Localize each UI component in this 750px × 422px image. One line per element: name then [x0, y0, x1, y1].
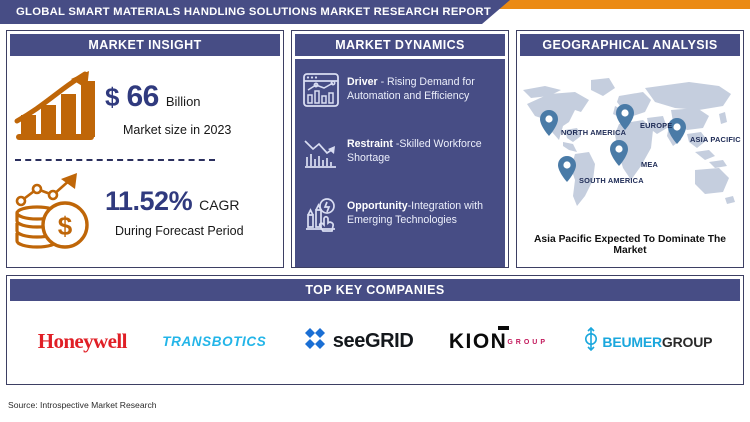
logo-kion-text: KION — [449, 330, 508, 353]
cagr-row: $ 11.52% CA — [13, 168, 279, 256]
company-logo-row: Honeywell TRANSBOTICS seeGRI — [10, 301, 740, 382]
map-pin-mea — [610, 140, 628, 166]
banner-navy-shape: GLOBAL SMART MATERIALS HANDLING SOLUTION… — [0, 0, 510, 24]
cagr-text: 11.52% CAGR During Forecast Period — [105, 186, 244, 238]
beumer-circle-mark-icon — [583, 327, 599, 356]
map-label-asia-pacific: ASIA PACIFIC — [690, 135, 741, 144]
market-size-text: $ 66 Billion Market size in 2023 — [105, 80, 231, 137]
top-key-companies-heading: TOP KEY COMPANIES — [10, 279, 740, 301]
dynamics-driver-sep: - — [378, 76, 387, 88]
map-label-europe: EUROPE — [640, 121, 672, 130]
market-dynamics-heading: MARKET DYNAMICS — [295, 34, 505, 56]
declining-bar-chart-icon — [302, 133, 344, 176]
dashboard-analytics-icon — [302, 71, 344, 114]
currency-symbol: $ — [105, 82, 119, 113]
logo-transbotics[interactable]: TRANSBOTICS — [162, 334, 266, 349]
logo-beumer-subtext: GROUP — [662, 334, 712, 350]
logo-beumer[interactable]: BEUMERGROUP — [583, 327, 712, 356]
map-label-north-america: NORTH AMERICA — [561, 128, 626, 137]
logo-kion[interactable]: KION GROUP — [449, 330, 548, 354]
top-banner: GLOBAL SMART MATERIALS HANDLING SOLUTION… — [0, 0, 750, 24]
report-title: GLOBAL SMART MATERIALS HANDLING SOLUTION… — [0, 6, 491, 18]
logo-kion-subtext: GROUP — [507, 339, 548, 346]
logo-seegrid-text: seeGRID — [333, 330, 414, 353]
coins-growth-icon: $ — [13, 169, 99, 256]
map-label-south-america: SOUTH AMERICA — [579, 176, 644, 185]
dynamics-restraint-text: Restraint -Skilled Workforce Shortage — [344, 131, 498, 165]
geographical-analysis-heading: GEOGRAPHICAL ANALYSIS — [520, 34, 740, 56]
svg-text:$: $ — [58, 211, 73, 241]
market-size-caption: Market size in 2023 — [123, 123, 231, 137]
market-size-value: 66 — [126, 80, 158, 114]
market-insight-body: $ 66 Billion Market size in 2023 — [7, 56, 283, 268]
cagr-unit: CAGR — [199, 197, 239, 213]
market-insight-panel: MARKET INSIGHT — [6, 30, 284, 268]
cagr-value: 11.52% — [105, 186, 192, 217]
dynamics-driver-label: Driver — [347, 76, 378, 88]
logo-seegrid[interactable]: seeGRID — [302, 326, 414, 357]
logo-beumer-text: BEUMER — [602, 334, 661, 350]
kion-dash-mark-icon — [498, 326, 509, 330]
growth-hand-touch-icon — [302, 195, 344, 238]
geographical-analysis-panel: GEOGRAPHICAL ANALYSIS — [516, 30, 744, 268]
market-dynamics-body: Driver - Rising Demand for Automation an… — [295, 59, 505, 267]
map-pin-north-america — [540, 110, 558, 136]
map-pins-layer — [519, 70, 741, 220]
bar-chart-growth-icon — [13, 67, 99, 150]
logo-honeywell[interactable]: Honeywell — [38, 329, 127, 354]
logo-transbotics-text: TRANSBOTICS — [162, 334, 266, 349]
map-pin-europe — [616, 104, 634, 130]
dynamics-item-driver: Driver - Rising Demand for Automation an… — [302, 69, 498, 115]
geographical-analysis-body: NORTH AMERICA EUROPE ASIA PACIFIC MEA SO… — [517, 56, 743, 268]
market-dynamics-panel: MARKET DYNAMICS — [291, 30, 509, 268]
dynamics-item-restraint: Restraint -Skilled Workforce Shortage — [302, 131, 498, 177]
dynamics-opportunity-text: Opportunity-Integration with Emerging Te… — [344, 193, 498, 227]
dynamics-restraint-label: Restraint — [347, 138, 393, 150]
market-size-unit: Billion — [166, 94, 201, 109]
insight-divider — [15, 159, 215, 161]
geo-caption: Asia Pacific Expected To Dominate The Ma… — [517, 234, 743, 256]
top-key-companies-panel: TOP KEY COMPANIES Honeywell TRANSBOTICS — [6, 275, 744, 385]
source-note: Source: Introspective Market Research — [8, 400, 157, 410]
dynamics-driver-text: Driver - Rising Demand for Automation an… — [344, 69, 498, 103]
map-pin-south-america — [558, 156, 576, 182]
map-label-mea: MEA — [641, 160, 658, 169]
market-size-row: $ 66 Billion Market size in 2023 — [13, 64, 279, 152]
dynamics-item-opportunity: Opportunity-Integration with Emerging Te… — [302, 193, 498, 239]
cagr-caption: During Forecast Period — [115, 224, 244, 238]
market-insight-heading: MARKET INSIGHT — [10, 34, 280, 56]
dynamics-opportunity-label: Opportunity — [347, 200, 408, 212]
seegrid-diamond-mark-icon — [302, 326, 328, 357]
logo-honeywell-text: Honeywell — [38, 329, 127, 354]
infographic-page: GLOBAL SMART MATERIALS HANDLING SOLUTION… — [0, 0, 750, 422]
